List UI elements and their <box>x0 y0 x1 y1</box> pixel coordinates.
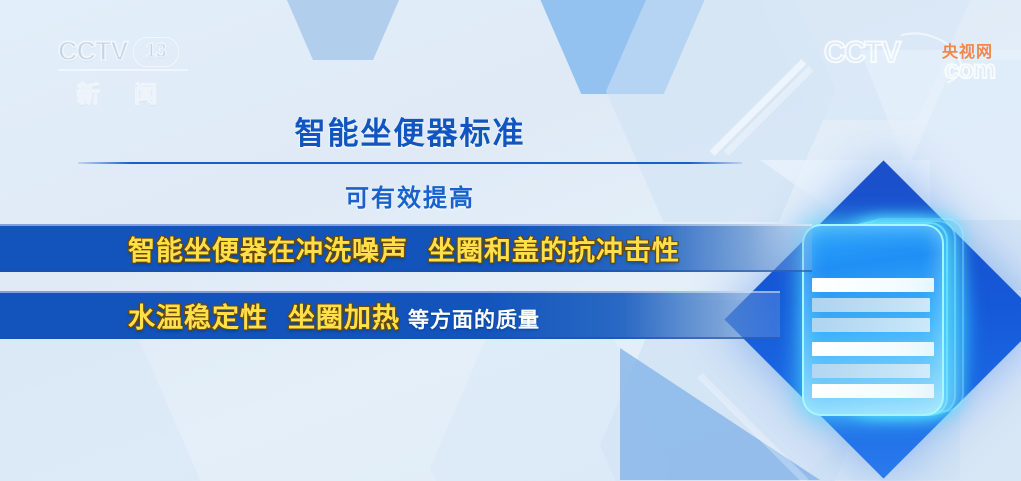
headline-block: 智能坐便器标准 可有效提高 <box>0 108 820 213</box>
hexagon-shape <box>283 0 403 60</box>
title-divider <box>78 162 742 164</box>
banner-highlight-text-2: 坐圈和盖的抗冲击性 <box>428 236 680 266</box>
banner-plain-text: 等方面的质量 <box>408 309 540 332</box>
banner-highlight-text-2: 坐圈加热 <box>288 303 400 333</box>
banner-highlight-text: 智能坐便器在冲洗噪声 <box>128 236 408 266</box>
document-card-icon <box>802 224 944 416</box>
cctv-letters: CCTV <box>58 36 128 67</box>
logo-underline <box>58 69 188 71</box>
cctv-13-logo-subtitle: 新 闻 <box>58 75 190 109</box>
banner-text: 水温稳定性坐圈加热等方面的质量 <box>128 296 540 335</box>
hexagon-shape <box>0 330 200 481</box>
banner-row-1: 智能坐便器在冲洗噪声坐圈和盖的抗冲击性 <box>0 224 812 272</box>
document-text-line <box>812 364 930 378</box>
channel-number-badge: 13 <box>133 37 179 67</box>
document-text-line <box>812 342 934 356</box>
page-subtitle: 可有效提高 <box>0 178 820 213</box>
document-text-line <box>812 298 930 312</box>
document-text-line <box>812 384 934 398</box>
banner-text: 智能坐便器在冲洗噪声坐圈和盖的抗冲击性 <box>128 229 680 268</box>
document-text-line <box>812 318 930 332</box>
document-text-line <box>812 278 934 292</box>
cctv-13-logo-letters: CCTV 13 <box>58 36 218 67</box>
page-title: 智能坐便器标准 <box>0 108 820 153</box>
broadcast-graphic-screen: CCTV 13 新 闻 CCTV 央视网 com 智能坐便器标准 可有效提高 智… <box>0 0 1021 481</box>
banner-row-2: 水温稳定性坐圈加热等方面的质量 <box>0 291 780 339</box>
cctv-13-logo: CCTV 13 新 闻 <box>58 36 218 106</box>
banner-highlight-text: 水温稳定性 <box>128 303 268 333</box>
watermark-domain: com <box>945 54 995 85</box>
cctv-com-watermark: CCTV 央视网 com <box>824 36 999 82</box>
